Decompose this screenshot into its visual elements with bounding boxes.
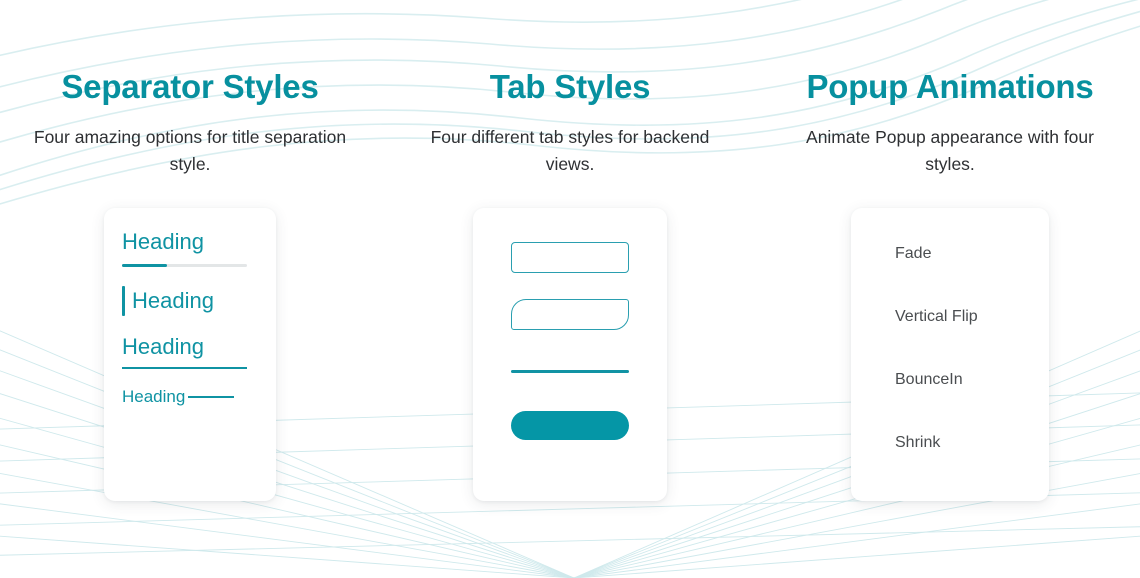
separator-label: Heading bbox=[132, 289, 214, 314]
popup-animations-card: Fade Vertical Flip BounceIn Shrink bbox=[851, 208, 1049, 501]
separator-rule-trailing bbox=[188, 396, 234, 398]
page-title-popup-animations: Popup Animations bbox=[806, 0, 1093, 107]
subtitle-tab-styles: Four different tab styles for backend vi… bbox=[405, 107, 735, 178]
page-title-tab-styles: Tab Styles bbox=[490, 0, 651, 107]
separator-preview-partial-underline[interactable]: Heading bbox=[122, 230, 258, 267]
popup-animation-option-shrink[interactable]: Shrink bbox=[895, 435, 940, 451]
feature-showcase: Separator Styles Four amazing options fo… bbox=[0, 0, 1140, 578]
tab-preview-diagonal-rounded[interactable] bbox=[511, 299, 629, 330]
separator-preview-inline-trailing-line[interactable]: Heading bbox=[122, 388, 258, 405]
popup-animation-option-fade[interactable]: Fade bbox=[895, 246, 931, 262]
separator-rule-underline bbox=[122, 367, 247, 369]
separator-rule-vertical-bar bbox=[122, 286, 125, 316]
tab-preview-underline-bar[interactable] bbox=[511, 370, 629, 373]
column-tab-styles: Tab Styles Four different tab styles for… bbox=[380, 0, 760, 501]
separator-preview-full-underline[interactable]: Heading bbox=[122, 335, 258, 370]
popup-animation-option-bouncein[interactable]: BounceIn bbox=[895, 372, 963, 388]
page-title-separator-styles: Separator Styles bbox=[61, 0, 318, 107]
separator-label: Heading bbox=[122, 335, 258, 360]
subtitle-popup-animations: Animate Popup appearance with four style… bbox=[785, 107, 1115, 178]
separator-label: Heading bbox=[122, 230, 258, 255]
tab-preview-rounded-rectangle[interactable] bbox=[511, 242, 629, 273]
popup-animation-option-vertical-flip[interactable]: Vertical Flip bbox=[895, 309, 978, 325]
separator-preview-left-vertical-bar[interactable]: Heading bbox=[122, 286, 258, 316]
separator-styles-card: Heading Heading Heading Heading bbox=[104, 208, 276, 501]
separator-rule-partial bbox=[122, 264, 247, 267]
column-separator-styles: Separator Styles Four amazing options fo… bbox=[0, 0, 380, 501]
tab-preview-list bbox=[495, 242, 645, 440]
tab-preview-filled-pill[interactable] bbox=[511, 411, 629, 440]
subtitle-separator-styles: Four amazing options for title separatio… bbox=[25, 107, 355, 178]
column-popup-animations: Popup Animations Animate Popup appearanc… bbox=[760, 0, 1140, 501]
tab-styles-card bbox=[473, 208, 667, 501]
separator-label: Heading bbox=[122, 388, 185, 405]
